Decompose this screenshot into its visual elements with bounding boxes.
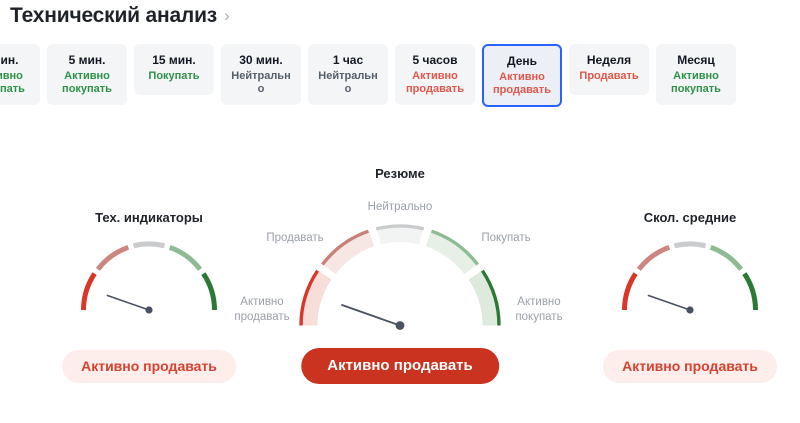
verdict-pill-left[interactable]: Активно продавать: [62, 350, 236, 383]
gauge-needle-center: [342, 305, 404, 330]
gauge-arc-segments-left: [84, 244, 215, 310]
tab-period-label: Месяц: [677, 53, 715, 67]
tab-timeframe-week[interactable]: Неделя Продавать: [569, 44, 649, 95]
needle-pivot: [396, 321, 405, 330]
arc-label-strong-buy-line2: покупать: [515, 311, 562, 323]
tab-signal-label: Активно продавать: [491, 71, 553, 97]
gauge-title: Скол. средние: [575, 210, 800, 225]
gauge-svg-left: [74, 238, 224, 320]
band-buy: [429, 238, 472, 269]
tab-period-label: 15 мин.: [152, 53, 196, 67]
arc-strong-buy: [744, 274, 755, 310]
arc-strong-sell: [625, 274, 636, 310]
tab-timeframe-30min[interactable]: 30 мин. Нейтрально: [221, 44, 301, 105]
band-sell: [329, 238, 372, 269]
tab-signal-label: Активно покупать: [0, 70, 31, 96]
gauge-needle-left: [108, 296, 153, 314]
tab-signal-label: Покупать: [148, 70, 199, 83]
arc-buy: [170, 247, 200, 269]
tab-timeframe-day[interactable]: День Активно продавать: [482, 44, 562, 107]
tab-period-label: 30 мин.: [239, 53, 283, 67]
arc-neutral: [675, 244, 706, 246]
arc-label-strong-sell-line2: продавать: [234, 311, 289, 323]
gauge-arc-segments-right: [625, 244, 756, 310]
needle-line: [342, 305, 400, 326]
tab-period-label: 5 мин.: [69, 53, 106, 67]
arc-label-strong-buy-line1: Активно: [517, 296, 560, 308]
verdict-pill-center[interactable]: Активно продавать: [301, 348, 499, 384]
gauge-needle-right: [649, 296, 694, 314]
arc-sell: [639, 247, 669, 269]
needle-pivot: [686, 306, 693, 313]
tab-timeframe-15min[interactable]: 15 мин. Покупать: [134, 44, 214, 95]
arc-strong-sell: [84, 274, 95, 310]
tab-timeframe-month[interactable]: Месяц Активно покупать: [656, 44, 736, 105]
tab-period-label: 1 час: [333, 53, 363, 67]
needle-line: [108, 296, 150, 311]
arc-label-sell: Продавать: [266, 232, 323, 244]
needle-pivot: [145, 306, 152, 313]
arc-neutral: [134, 244, 165, 246]
gauge-band-segments-center: [309, 234, 491, 326]
verdict-pill-right[interactable]: Активно продавать: [603, 350, 777, 383]
tab-signal-label: Активно покупать: [665, 70, 727, 96]
arc-label-buy: Покупать: [481, 232, 530, 244]
tab-timeframe-5min[interactable]: 5 мин. Активно покупать: [47, 44, 127, 105]
arc-strong-buy: [203, 274, 214, 310]
gauge-dial: [575, 238, 800, 320]
tab-signal-label: Нейтрально: [230, 70, 292, 96]
page-title: Технический анализ: [10, 2, 217, 30]
gauge-dial: Нейтрально Продавать Покупать Активно пр…: [235, 192, 565, 337]
summary-section-title: Резюме: [0, 166, 800, 181]
tab-period-label: 1 мин.: [0, 53, 18, 67]
gauge-svg-right: [615, 238, 765, 320]
tab-timeframe-5hours[interactable]: 5 часов Активно продавать: [395, 44, 475, 105]
tab-period-label: Неделя: [587, 53, 631, 67]
arc-buy: [711, 247, 741, 269]
arc-label-neutral: Нейтрально: [368, 201, 433, 213]
tab-period-label: День: [507, 54, 537, 68]
tab-signal-label: Активно продавать: [404, 70, 466, 96]
band-neutral: [379, 234, 422, 237]
tab-signal-label: Нейтрально: [317, 70, 379, 96]
gauge-title: Тех. индикаторы: [34, 210, 264, 225]
gauge-dial: [34, 238, 264, 320]
tab-timeframe-1min[interactable]: 1 мин. Активно покупать: [0, 44, 40, 105]
tab-timeframe-1hour[interactable]: 1 час Нейтрально: [308, 44, 388, 105]
tab-signal-label: Активно покупать: [56, 70, 118, 96]
gauge-svg-center: Нейтрально Продавать Покупать Активно пр…: [235, 192, 565, 337]
tab-period-label: 5 часов: [412, 53, 457, 67]
needle-line: [649, 296, 691, 311]
timeframe-tab-strip[interactable]: 1 мин. Активно покупать 5 мин. Активно п…: [0, 44, 736, 107]
arc-label-strong-sell-line1: Активно: [240, 296, 283, 308]
arc-sell: [98, 247, 128, 269]
chevron-right-icon[interactable]: ›: [224, 6, 230, 27]
page-header[interactable]: Технический анализ ›: [10, 2, 230, 30]
tab-signal-label: Продавать: [579, 70, 638, 83]
gauges-section: Резюме Тех. индикаторы Активно продавать: [0, 160, 800, 423]
